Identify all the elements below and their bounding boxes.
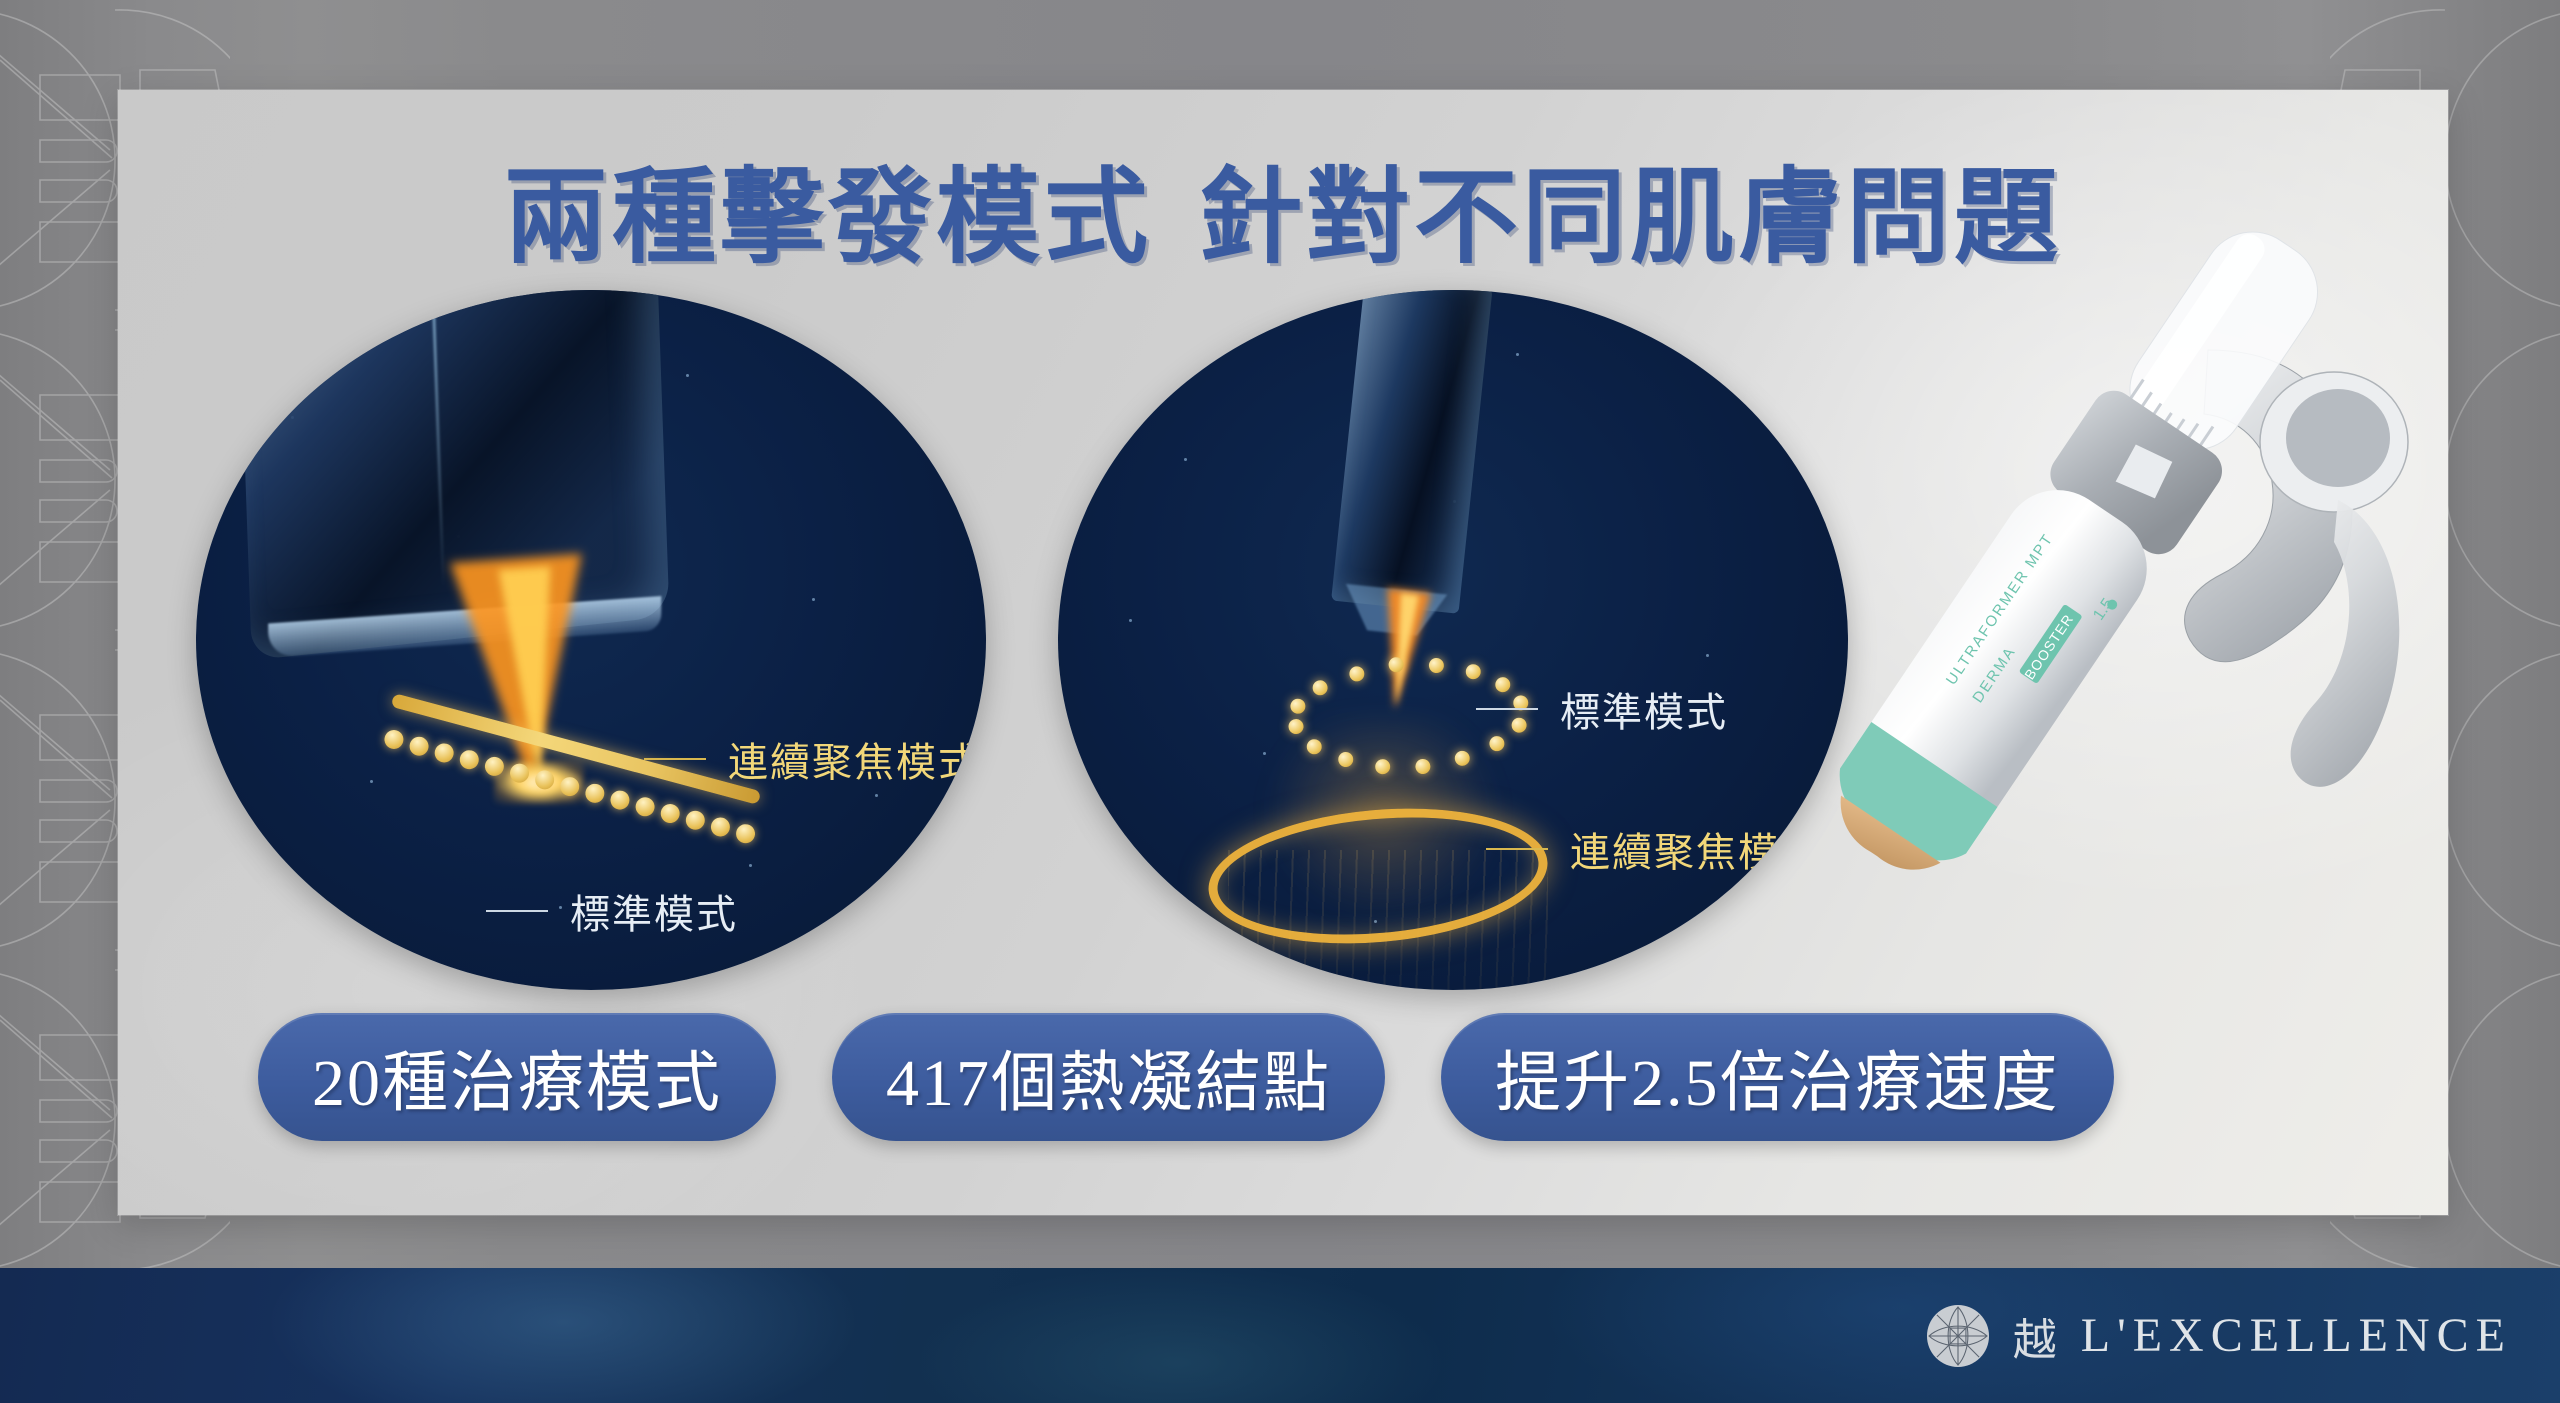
footer-bar: 越 L'EXCELLENCE [0, 1268, 2560, 1403]
brand-name-en: L'EXCELLENCE [2081, 1308, 2512, 1363]
label-text: 連續聚焦模式 [1570, 820, 1822, 878]
device-label-line1: ULTRAFORMER MPT [1943, 530, 2057, 688]
content-card: 兩種擊發模式針對不同肌膚問題 [118, 90, 2448, 1215]
label-text: 標準模式 [1560, 680, 1728, 738]
label-right-continuous-focus: 連續聚焦模式 [1486, 820, 1822, 878]
device-label-badge: BOOSTER [2021, 611, 2076, 683]
leader-dash-icon [1476, 708, 1538, 710]
leader-dash-icon [1486, 848, 1548, 850]
label-left-standard-mode: 標準模式 [486, 882, 738, 940]
title-part-1: 兩種擊發模式 [504, 161, 1152, 276]
page-title: 兩種擊發模式針對不同肌膚問題 [118, 132, 2448, 283]
label-text: 連續聚焦模式 [728, 730, 980, 788]
illustration-group: 連續聚焦模式 標準模式 [178, 290, 1818, 990]
device-label-depth: 1.5 [2090, 595, 2117, 623]
badge-treatment-speed[interactable]: 提升2.5倍治療速度 [1441, 1013, 2114, 1141]
diamond-circle-emblem-icon [1925, 1303, 1991, 1369]
label-text: 標準模式 [570, 882, 738, 940]
badge-treatment-modes[interactable]: 20種治療模式 [258, 1013, 776, 1141]
left-illustration-circle: 連續聚焦模式 標準模式 [196, 290, 986, 990]
device-label-line2: DERMA [1969, 643, 2019, 706]
label-right-standard-mode: 標準模式 [1476, 680, 1728, 738]
leader-dash-icon [644, 758, 706, 760]
leader-dash-icon [486, 910, 548, 912]
stat-badge-group: 20種治療模式 417個熱凝結點 提升2.5倍治療速度 [258, 1013, 2114, 1141]
brand-lockup: 越 L'EXCELLENCE [1925, 1303, 2512, 1369]
brand-name-cn: 越 [2013, 1304, 2059, 1368]
label-left-continuous-focus: 連續聚焦模式 [644, 730, 980, 788]
badge-coagulation-points[interactable]: 417個熱凝結點 [832, 1013, 1385, 1141]
title-part-2: 針對不同肌膚問題 [1198, 161, 2062, 276]
right-illustration-circle: 標準模式 連續聚焦模式 [1058, 290, 1848, 990]
